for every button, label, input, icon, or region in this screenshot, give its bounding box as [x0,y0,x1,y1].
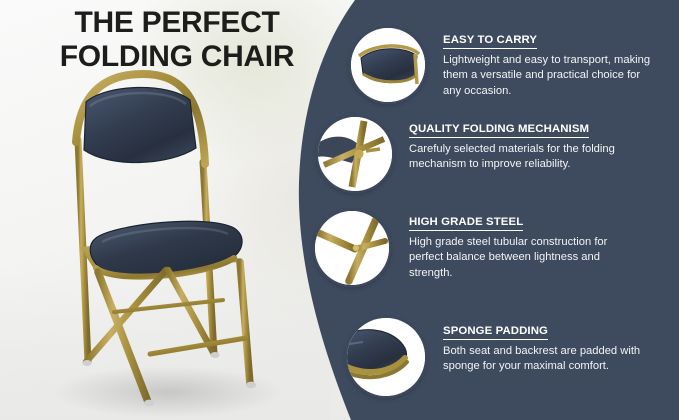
feature-body: Both seat and backrest are padded with s… [443,344,658,375]
detail-circle-sponge-padding [347,318,425,396]
detail-circle-high-grade-steel [315,211,389,285]
detail-circle-folding-mechanism [318,117,392,191]
feature-heading: EASY TO CARRY [443,34,537,49]
feature-body: High grade steel tubular construction fo… [409,235,639,281]
feature-body: Carefuly selected materials for the fold… [409,142,649,173]
chair-product-image [18,62,318,420]
feature-block-folding-mechanism: QUALITY FOLDING MECHANISM Carefuly selec… [409,119,649,173]
feature-body: Lightweight and easy to transport, makin… [443,53,658,99]
feature-block-sponge-padding: SPONGE PADDING Both seat and backrest ar… [443,321,658,375]
feature-heading: QUALITY FOLDING MECHANISM [409,123,589,138]
feature-heading: HIGH GRADE STEEL [409,216,523,231]
feature-block-easy-to-carry: EASY TO CARRY Lightweight and easy to tr… [443,30,658,99]
title-line-1: THE PERFECT [22,6,332,40]
feature-heading: SPONGE PADDING [443,325,548,340]
feature-block-high-grade-steel: HIGH GRADE STEEL High grade steel tubula… [409,212,639,281]
detail-circle-easy-to-carry [351,28,425,102]
